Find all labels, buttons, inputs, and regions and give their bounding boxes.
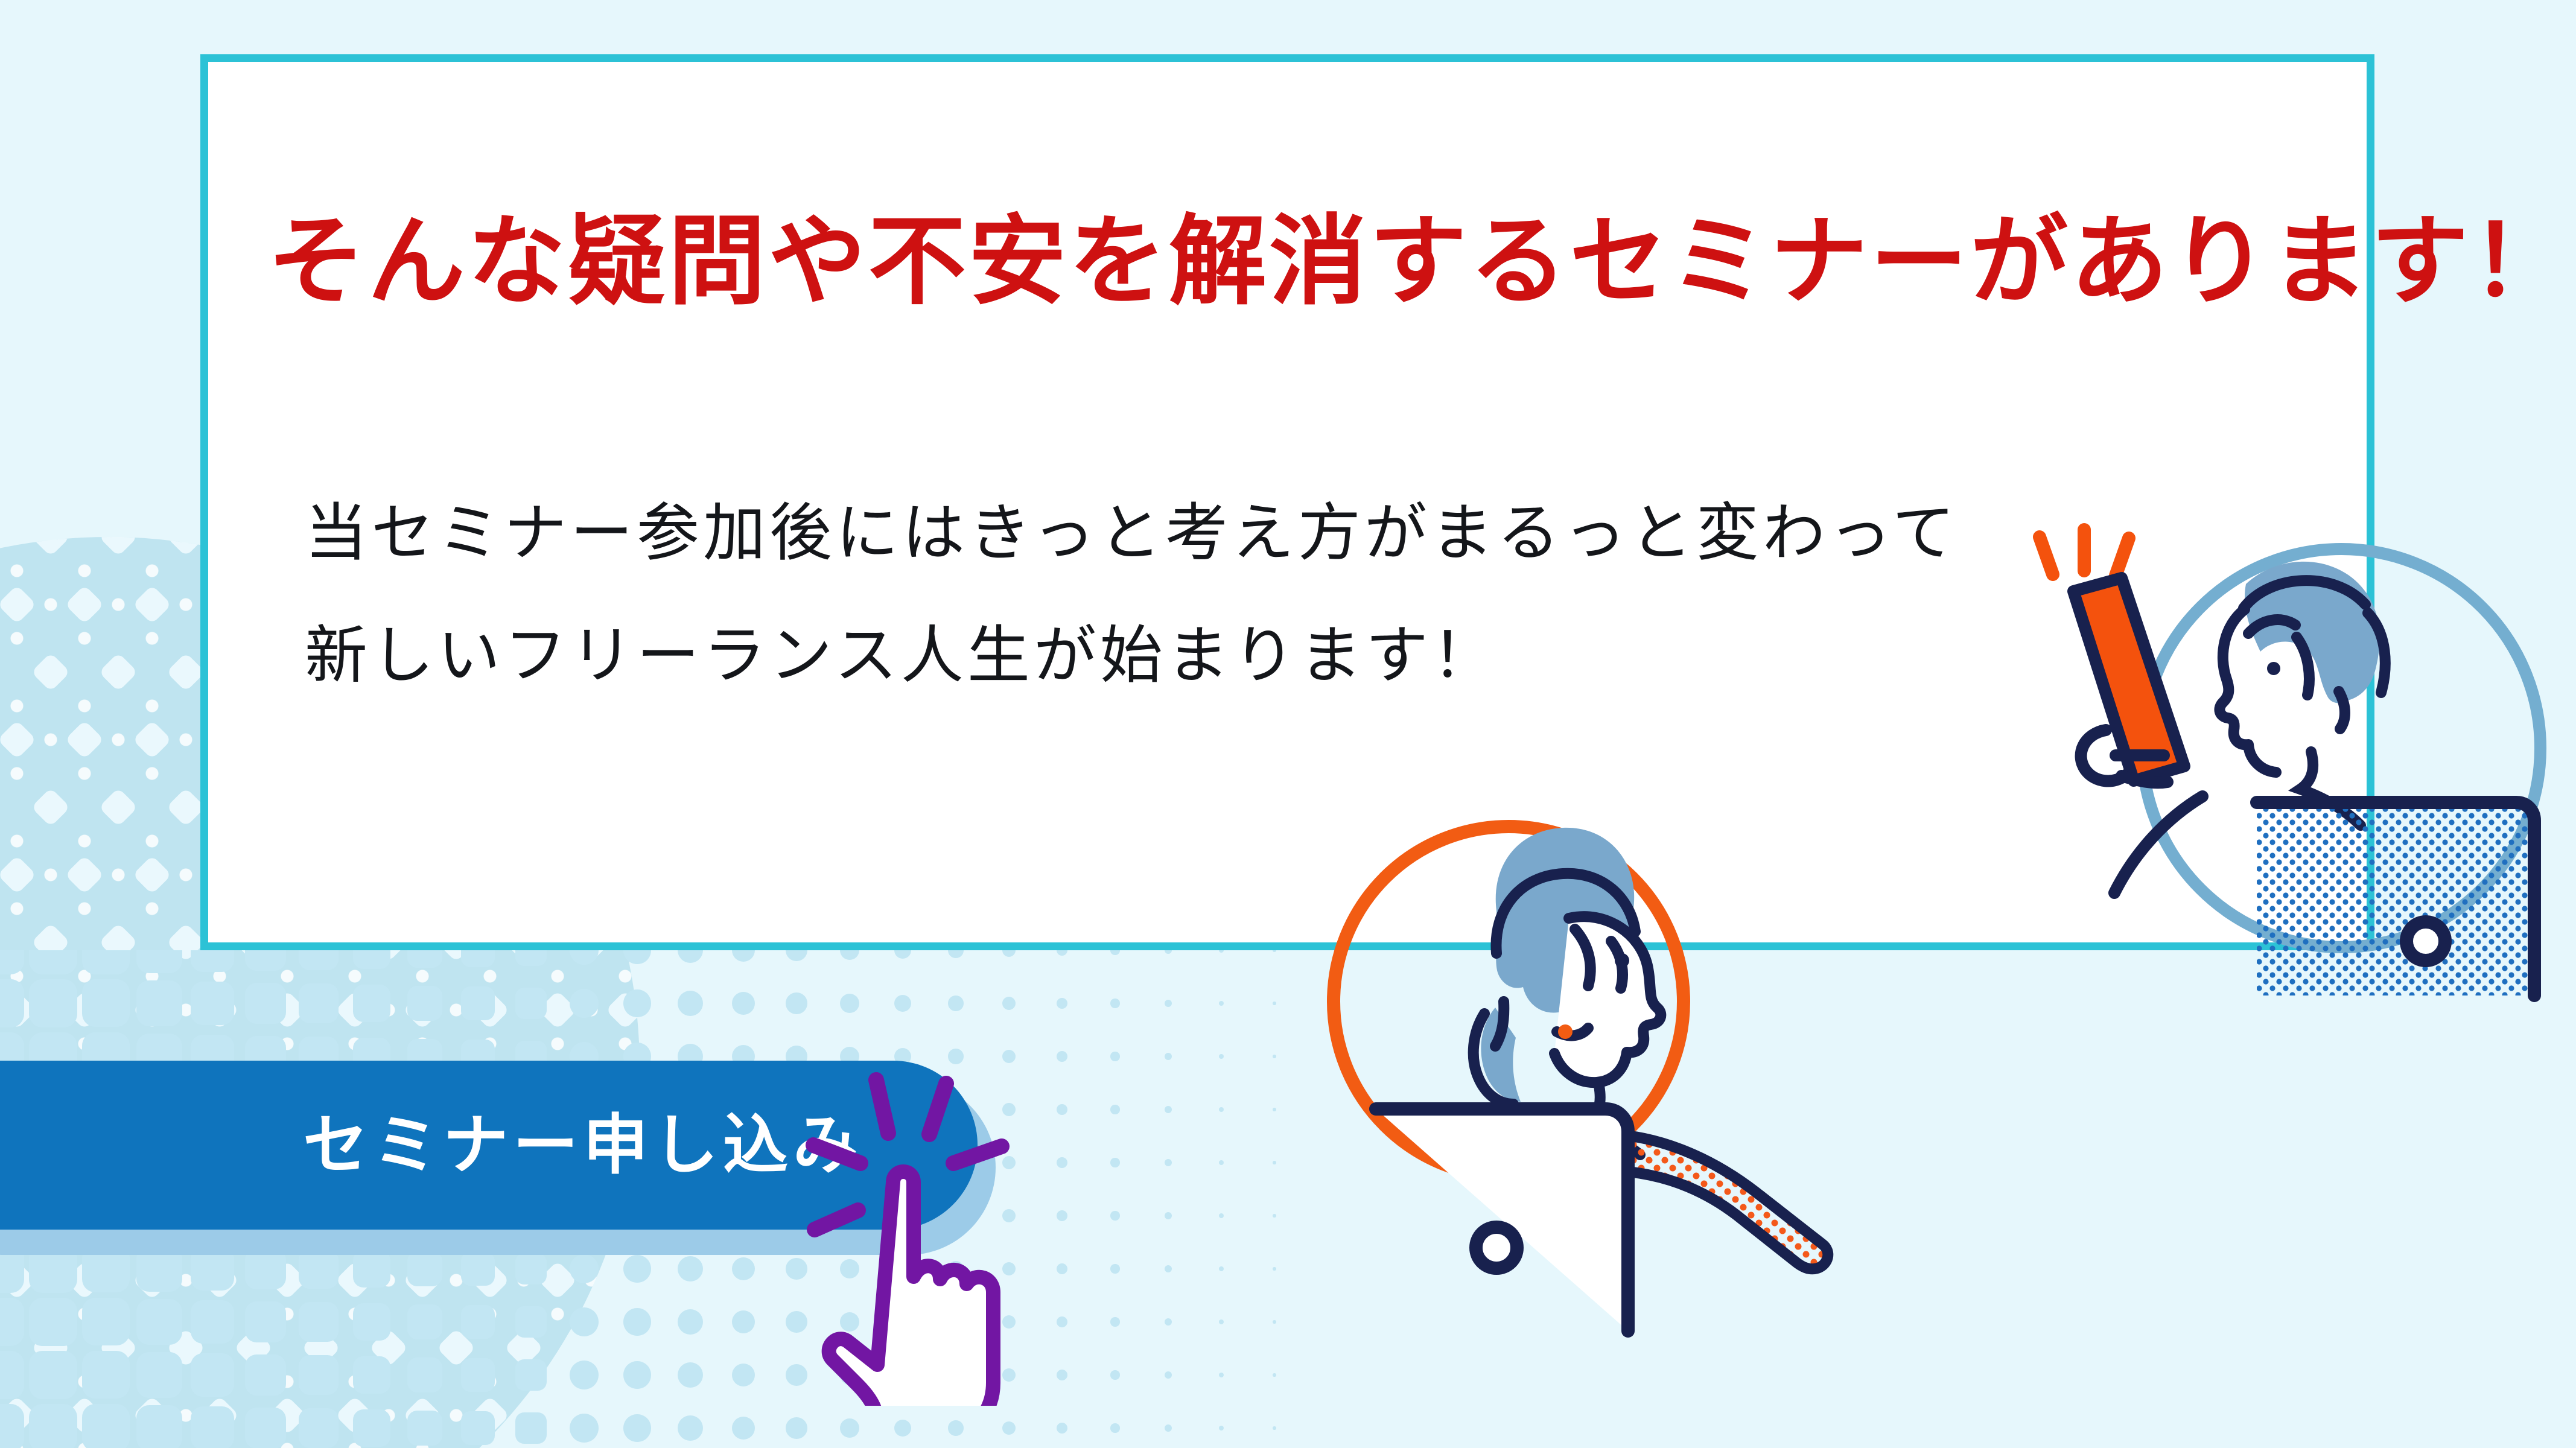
laptop-logo	[1476, 1227, 1517, 1268]
laptop-screen	[2257, 802, 2534, 996]
body-copy-line-2: 新しいフリーランス人生が始まります！	[305, 595, 2236, 717]
excitement-burst-icon	[2040, 530, 2129, 576]
man-with-laptop-illustration	[2003, 507, 2576, 1026]
poster-stage: そんな疑問や不安を解消するセミナーがあります！ 当セミナー参加後にはきっと考え方…	[0, 0, 2576, 1448]
earring	[1558, 1024, 1573, 1039]
dotted-sleeve	[1605, 1134, 1828, 1269]
body-copy-line-1: 当セミナー参加後にはきっと考え方がまるっと変わって	[305, 472, 2236, 595]
laptop-shape	[1376, 1109, 1628, 1331]
page-title: そんな疑問や不安を解消するセミナーがあります！	[267, 213, 2331, 311]
pointing-hand-cursor-icon[interactable]	[803, 1068, 1056, 1406]
laptop-logo	[2406, 922, 2445, 961]
eye	[1615, 953, 1629, 968]
woman-with-laptop-illustration	[1315, 748, 1931, 1358]
body-copy: 当セミナー参加後にはきっと考え方がまるっと変わって 新しいフリーランス人生が始ま…	[305, 472, 2236, 717]
eye	[2267, 662, 2280, 675]
